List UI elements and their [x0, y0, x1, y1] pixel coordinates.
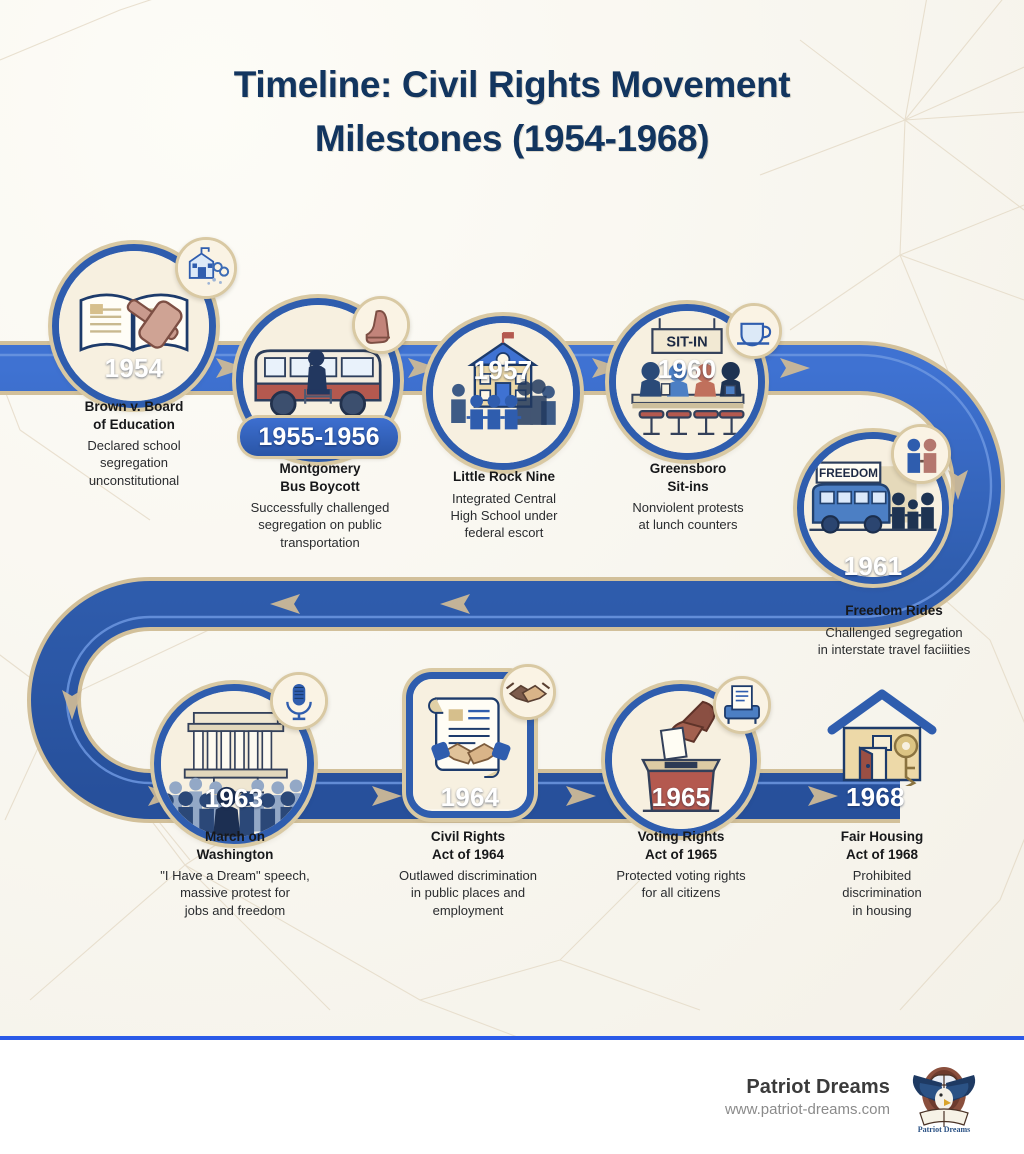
- milestone-caption-1954: Brown v. Board of Education Declared sch…: [34, 398, 234, 489]
- milestone-description-1964: Outlawed discrimination in public places…: [368, 867, 568, 919]
- milestone-caption-1965: Voting Rights Act of 1965 Protected voti…: [588, 828, 774, 902]
- milestone-caption-1968: Fair Housing Act of 1968 Prohibited disc…: [796, 828, 968, 919]
- handshake-icon: [500, 664, 556, 720]
- infographic-poster: 1954 Brown v. Board of Education Declare…: [0, 0, 1024, 1154]
- milestone-year-1963: 1963: [154, 776, 314, 820]
- milestone-description-1955-1956: Successfully challenged segregation on p…: [222, 499, 418, 551]
- milestone-year-1954: 1954: [52, 345, 216, 391]
- milestone-title-1955-1956: Montgomery Bus Boycott: [222, 460, 418, 495]
- milestone-caption-1961: Freedom Rides Challenged segregation in …: [770, 602, 1018, 658]
- walking-foot-icon: [352, 296, 410, 354]
- brand-block: Patriot Dreams www.patriot-dreams.com: [725, 1076, 890, 1118]
- house-with-key-icon: [820, 686, 946, 786]
- milestone-title-1968: Fair Housing Act of 1968: [796, 828, 968, 863]
- title-line-2: Milestones (1954-1968): [315, 118, 709, 159]
- milestone-year-1968: 1968: [846, 776, 936, 818]
- milestone-title-1957: Little Rock Nine: [416, 468, 592, 486]
- milestone-title-1965: Voting Rights Act of 1965: [588, 828, 774, 863]
- two-people-holding-hands-icon: [891, 424, 951, 484]
- microphone-icon: [270, 672, 328, 730]
- milestone-year-1957: 1957: [426, 348, 580, 392]
- schoolhouse-broken-chains-icon: [175, 237, 237, 299]
- milestone-description-1960: Nonviolent protests at lunch counters: [598, 499, 778, 534]
- milestone-caption-1957: Little Rock Nine Integrated Central High…: [416, 468, 592, 541]
- milestone-year-1965: 1965: [605, 776, 757, 818]
- milestone-year-1961: 1961: [797, 545, 949, 587]
- milestone-description-1961: Challenged segregation in interstate tra…: [770, 624, 1018, 659]
- brand-name: Patriot Dreams: [725, 1076, 890, 1099]
- milestone-caption-1964: Civil Rights Act of 1964 Outlawed discri…: [368, 828, 568, 919]
- title-line-1: Timeline: Civil Rights Movement: [234, 64, 790, 105]
- eagle-over-open-book-emblem: Patriot Dreams: [906, 1059, 982, 1135]
- freedom-sign-label: FREEDOM: [819, 466, 878, 480]
- milestone-title-1960: Greensboro Sit-ins: [598, 460, 778, 495]
- milestone-caption-1960: Greensboro Sit-ins Nonviolent protests a…: [598, 460, 778, 534]
- milestone-caption-1963: March on Washington "I Have a Dream" spe…: [136, 828, 334, 919]
- page-title: Timeline: Civil Rights Movement Mileston…: [0, 58, 1024, 165]
- milestone-icon-frame-1957: [426, 316, 580, 470]
- milestone-year-1955-1956: 1955-1956: [240, 418, 398, 456]
- school-building-with-students-icon: [433, 323, 573, 463]
- footer: Patriot Dreams www.patriot-dreams.com: [0, 1040, 1024, 1154]
- milestone-title-1963: March on Washington: [136, 828, 334, 863]
- milestone-title-1964: Civil Rights Act of 1964: [368, 828, 568, 863]
- coffee-cup-icon: [726, 303, 782, 359]
- milestone-description-1954: Declared school segregation unconstituti…: [34, 437, 234, 489]
- milestone-caption-1955-1956: Montgomery Bus Boycott Successfully chal…: [222, 460, 418, 551]
- milestone-description-1963: "I Have a Dream" speech, massive protest…: [136, 867, 334, 919]
- voting-machine-icon: [713, 676, 771, 734]
- milestone-title-1954: Brown v. Board of Education: [34, 398, 234, 433]
- brand-website[interactable]: www.patriot-dreams.com: [725, 1101, 890, 1118]
- milestone-title-1961: Freedom Rides: [770, 602, 1018, 620]
- poster-canvas: 1954 Brown v. Board of Education Declare…: [0, 0, 1024, 1038]
- milestone-description-1968: Prohibited discrimination in housing: [796, 867, 968, 919]
- logo-caption: Patriot Dreams: [918, 1125, 971, 1134]
- milestone-year-1964: 1964: [406, 776, 534, 818]
- milestone-description-1965: Protected voting rights for all citizens: [588, 867, 774, 902]
- milestone-description-1957: Integrated Central High School under fed…: [416, 490, 592, 542]
